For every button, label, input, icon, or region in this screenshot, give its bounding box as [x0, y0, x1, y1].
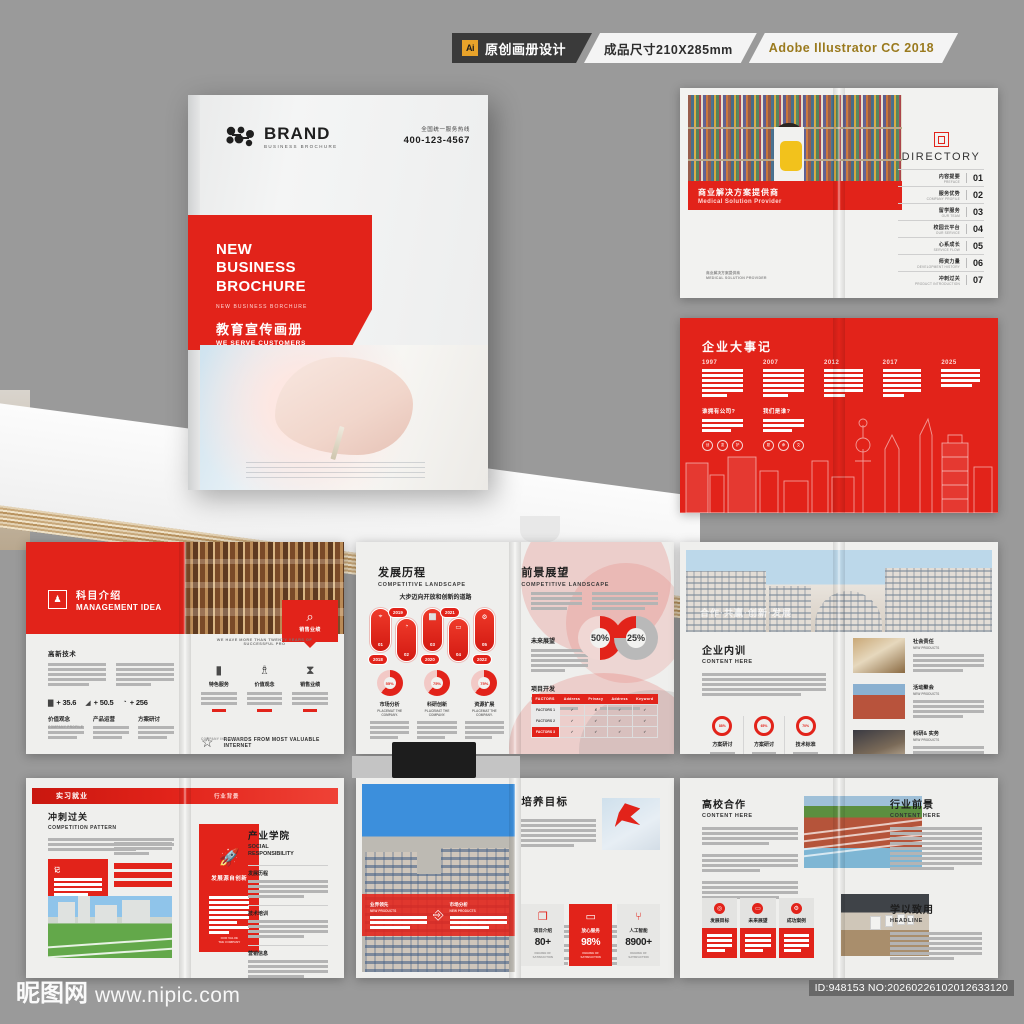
directory-item-number: 05 [966, 241, 984, 251]
table-header-cell: Address [560, 694, 585, 705]
table-cell: ✔ [607, 716, 632, 727]
gear-icon: ⚙ [791, 903, 802, 914]
pin-icon: ⌖ [371, 613, 390, 621]
page-footer-left: COMPANY PROFILE [48, 725, 83, 729]
directory-item-number: 06 [966, 258, 984, 268]
internship-right-column [114, 842, 172, 890]
banner-label-finished-size: 成品尺寸210X285mm [604, 39, 733, 58]
feature-label: 销售业绩 [292, 681, 328, 688]
table-cell: ✔ [607, 705, 632, 716]
directory-item-number: 02 [966, 190, 984, 200]
stat-label: 价值观念 [48, 715, 84, 723]
directory-item-label-cn: 服务优势 [927, 190, 960, 197]
internship-groups: 发展历程 技术培训 营销信息 [248, 865, 328, 978]
milestone-question: 我们是谁? [763, 407, 804, 415]
list-item-thumbnail [853, 730, 905, 754]
internship-top-bar: 实习就业 行业背景 [32, 788, 338, 804]
banner-segment-software-type: Ai 原创画册设计 [452, 33, 592, 63]
apply-learning-title-cn: 学以致用 [890, 901, 982, 916]
table-cell: ✔ [632, 727, 657, 738]
stat-card: ▭ 放心服务 98% DEGREE OF SATISFACTION [569, 904, 612, 966]
photo-caption-band: 商业解决方案提供商 Medical Solution Provider [688, 181, 902, 210]
table-row-label: FACTORS 2 [532, 716, 560, 727]
tablet-device [392, 742, 476, 778]
ring-stat: 55% 市场分析 PLACEMAT THE COMPANY. [370, 670, 409, 739]
banner-segment-software: Adobe Illustrator CC 2018 [749, 33, 958, 63]
directory-item[interactable]: 服务优势 COMPANY PROFILE 02 [898, 186, 984, 203]
hotline-label: 全国统一服务热线 [404, 125, 470, 133]
strip-cell: 市场分析 NEW PRODUCTS [450, 902, 507, 929]
stat-card-label: 人工智能 [621, 928, 656, 934]
cover-photo-writing-hand [200, 345, 488, 490]
hourglass-icon: ⧗ [292, 664, 328, 676]
stat-value: + 256 [130, 698, 148, 707]
ring-percent: 70% [799, 719, 813, 733]
target-icon: ◎ [714, 903, 725, 914]
stat-card: ⑂ 人工智能 8900+ DEGREE OF SATISFACTION [617, 904, 660, 966]
ring-label: 方案研讨 [702, 741, 743, 748]
milestone-column: 2017 [883, 360, 922, 451]
ring-percent: 65% [757, 719, 771, 733]
management-title-cn: 科目介绍 [76, 587, 162, 602]
stat-card-label: 放心服务 [573, 928, 608, 934]
industry-outlook-title-cn: 行业前景 [890, 796, 982, 811]
directory-item-number: 01 [966, 173, 984, 183]
internship-title-cn: 冲刺过关 [48, 810, 174, 823]
training-title-cn: 企业内训 [702, 642, 826, 657]
stat-card-label: 项目介绍 [525, 928, 560, 934]
feature-item: ⧗ 销售业绩 [292, 664, 328, 712]
spread-cultivation-goals: 业界领先 NEW PRODUCTS ⎆ 市场分析 NEW PRODUCTS 培养… [356, 778, 674, 978]
banner-label-original-design: 原创画册设计 [485, 39, 566, 58]
timeline-pill-number: 01 [371, 642, 390, 647]
cover-subtitle-en: NEW BUSINESS BORCHURE [216, 304, 372, 310]
milestone-column: 2012 [824, 360, 863, 451]
badge-icon: ▮ [201, 664, 237, 676]
directory-item-label-en: PREFACE [939, 180, 960, 184]
ring-label-cn: 科研创新 [417, 701, 456, 708]
table-header-cell: Privacy [584, 694, 607, 705]
timeline-pill[interactable]: ⚙ 05 [474, 608, 495, 652]
red-ribbon-icon [615, 803, 641, 827]
milestone-year: 2012 [824, 360, 863, 366]
milestone-chips: 创 变 护 [702, 440, 743, 451]
university-card: ▭ 未来展望 [740, 898, 775, 958]
page-directory: 商业解决方案提供商 Medical Solution Provider 商业解决… [680, 88, 998, 298]
hero-overlay-text: 合作·共赢·创新·发展 [700, 606, 792, 619]
network-icon: ⎆ [433, 907, 443, 923]
timeline-pill-number: 04 [449, 652, 468, 657]
photo-caption-cn: 商业解决方案提供商 [698, 187, 902, 198]
directory-item-label-en: OUR SERVICE [933, 231, 960, 235]
goals-photo-strip: 业界领先 NEW PRODUCTS ⎆ 市场分析 NEW PRODUCTS [362, 894, 515, 936]
internship-title-en: COMPETITION PATTERN [48, 825, 174, 831]
directory-footnote: 商业解决方案提供商 MEDICAL SOLUTION PROVIDER [706, 271, 767, 280]
ring-label-cn: 资源扩展 [465, 701, 504, 708]
list-item-title-en: NEW PRODUCTS [913, 646, 984, 650]
training-rings-row: 88% 方案研讨 65% 方案研讨 70% 技术标准 [702, 716, 826, 754]
industry-outlook-title-en: CONTENT HERE [890, 813, 982, 819]
chat-icon: ▭ [573, 912, 608, 923]
ring-percent: 55% [377, 670, 403, 696]
management-right-body: WE HAVE MORE THAN TWENTY YEARS OF SUCCES… [185, 638, 344, 751]
timeline-year-tag: 2018 [368, 654, 388, 665]
chart-icon: ▇ [48, 699, 53, 707]
brochure-cover-mockup: BRAND BUSINESS BROCHURE 全国统一服务热线 400-123… [188, 95, 488, 490]
development-heading: 发展历程 COMPETITIVE LANDSCAPE [378, 564, 466, 588]
photo-caption-text: WE HAVE MORE THAN TWENTY YEARS OF SUCCES… [201, 638, 328, 646]
stat-value: + 50.5 [94, 698, 114, 707]
search-plus-icon: ⌕ [306, 610, 313, 623]
outlook-comparison-table: FACTORSAddressPrivacyAddressKeyword FACT… [515, 694, 674, 738]
group-title: 技术培训 [248, 910, 328, 917]
ring-chart: 75% [424, 670, 450, 696]
briefcase-icon: ▭ [449, 623, 468, 631]
table-cell: ✔ [632, 716, 657, 727]
management-section-title: 高新技术 [48, 648, 174, 658]
group-title: 营销信息 [248, 950, 328, 957]
donut-chart: 25% [614, 616, 658, 660]
hand-shape [275, 357, 413, 456]
ring-label: 技术标准 [785, 741, 826, 748]
feature-label: 价值观念 [247, 681, 283, 688]
stat-item: ◢ + 50.5 [85, 698, 113, 707]
list-item: 科研& 实务 NEW PRODUCTS [853, 730, 984, 754]
table-cell: ✔ [560, 705, 585, 716]
management-features-row: ▮ 特色服务 ♗ 价值观念 ⧗ 销售业绩 [201, 664, 328, 712]
brand-lockup: BRAND BUSINESS BROCHURE [224, 125, 338, 149]
red-card-label: 记 [54, 865, 102, 874]
directory-item[interactable]: 留学服务 OUR TEAM 03 [898, 203, 984, 220]
table-cell: ✘ [584, 705, 607, 716]
list-item-thumbnail [853, 684, 905, 719]
mockup-stage: Ai 原创画册设计 成品尺寸210X285mm Adobe Illustrato… [0, 0, 1024, 1024]
university-card-label: 未来展望 [742, 917, 773, 924]
table-cell: ✔ [584, 727, 607, 738]
milestone-question: 谁拥有公司? [702, 407, 743, 415]
milestone-year: 2017 [883, 360, 922, 366]
brand-molecule-logo-icon [224, 126, 258, 148]
milestone-year: 1997 [702, 360, 743, 366]
industry-academy-title-cn: 产业学院 [248, 828, 328, 842]
page-milestones: 企业大事记 1997 谁拥有公司? 创 变 护 2007 我们是谁? 愿 [680, 318, 998, 513]
internship-group: 营销信息 [248, 945, 328, 978]
asset-id-tag: ID:948153 NO:20260226102012633120 [809, 980, 1014, 996]
table-row: FACTORS 2 ✔✔✔✔ [532, 716, 658, 727]
university-card: ⚙ 成功案例 [779, 898, 814, 958]
university-cards: ◎ 发展目标 ▭ 未来展望 ⚙ 成功案例 [702, 898, 814, 958]
directory-item-label-cn: 心系成长 [934, 241, 960, 248]
development-title-cn: 发展历程 [378, 564, 466, 580]
training-ring-stat: 70% 技术标准 [784, 716, 826, 754]
outlook-donut-charts: 50% 25% [578, 616, 658, 660]
directory-footnote-en: MEDICAL SOLUTION PROVIDER [706, 276, 767, 280]
university-right-column-2: 学以致用 HEADLINE [890, 901, 982, 960]
person-square-icon: ♟ [48, 590, 67, 609]
clock-icon: ◔ [397, 623, 416, 630]
stat-label: 产品运营 [93, 715, 129, 723]
spread-internship-employment: 实习就业 行业背景 冲刺过关 COMPETITION PATTERN 记 内·点… [26, 778, 344, 978]
milestones-title: 企业大事记 [702, 338, 772, 355]
directory-item-label-en: COMPANY PROFILE [927, 197, 960, 201]
internship-bar-label-left: 实习就业 [56, 791, 88, 801]
stat-card-value: 98% [573, 937, 608, 948]
directory-heading: DIRECTORY [898, 151, 984, 163]
table-cell: ✔ [607, 727, 632, 738]
brand-tagline: BUSINESS BROCHURE [264, 144, 338, 149]
internship-group: 技术培训 [248, 905, 328, 938]
table-cell: ✔ [560, 727, 585, 738]
ring-chart: 55% [377, 670, 403, 696]
layers-icon: ❐ [525, 912, 560, 923]
list-item-title-en: NEW PRODUCTS [913, 692, 984, 696]
directory-item-label-cn: 冲刺过关 [915, 275, 960, 282]
management-left-body: 高新技术 ▇ + 35.6 ◢ + 50.5 ◔ + 256 价值观念 产品运营… [48, 648, 174, 739]
watermark-url: www.nipic.com [95, 985, 240, 1006]
directory-item[interactable]: 心系成长 SERVICE FLOW 05 [898, 237, 984, 254]
management-stats-row: ▇ + 35.6 ◢ + 50.5 ◔ + 256 [48, 698, 174, 707]
directory-item-label-en: OUR TEAM [939, 214, 960, 218]
brand-name: BRAND [264, 125, 338, 142]
internship-bar-label-right: 行业背景 [214, 792, 239, 800]
directory-item[interactable]: 冲刺过关 PRODUCT INTRODUCTION 07 [898, 271, 984, 288]
spread-internal-training: 合作·共赢·创新·发展 企业内训 CONTENT HERE 88% 方案研讨 6… [680, 542, 998, 754]
ring-label-cn: 市场分析 [370, 701, 409, 708]
table-row-label: FACTORS 3 [532, 727, 560, 738]
training-title-en: CONTENT HERE [702, 659, 826, 665]
ring-percent: 75% [471, 670, 497, 696]
list-item-title-cn: 社会责任 [913, 638, 984, 645]
site-watermark: 昵图网 www.nipic.com [16, 983, 240, 1006]
table-header-cell: Address [607, 694, 632, 705]
internship-right-text: 产业学院 SOCIAL RESPONSIBILITY 发展历程 技术培训 营销信… [248, 828, 328, 978]
stat-item: ▇ + 35.6 [48, 698, 76, 707]
ring-percent: 75% [424, 670, 450, 696]
car-icon: ⬜ [423, 613, 442, 621]
management-title-en: MANAGEMENT IDEA [76, 603, 162, 612]
university-card-label: 发展目标 [704, 917, 735, 924]
page-footer-right: COMPANY IN BUSINESS [201, 737, 244, 741]
directory-item-label-en: PRODUCT INTRODUCTION [915, 282, 960, 286]
university-title-cn: 高校合作 [702, 796, 798, 811]
banner-label-software-version: Adobe Illustrator CC 2018 [769, 41, 934, 55]
directory-item-number: 04 [966, 224, 984, 234]
cover-header: BRAND BUSINESS BROCHURE 全国统一服务热线 400-123… [224, 125, 470, 149]
org-icon: ⑂ [621, 912, 656, 923]
group-title: 发展历程 [248, 870, 328, 877]
table-header-row: FACTORSAddressPrivacyAddressKeyword [532, 694, 658, 705]
outlook-sub-2: 项目开发 [531, 684, 658, 693]
feature-item: ▮ 特色服务 [201, 664, 237, 712]
development-lead: 大步迈向开放和创新的道路 [356, 592, 515, 601]
campus-photo: 合作·共赢·创新·发展 [686, 550, 992, 632]
ring-stat: 75% 资源扩展 PLACEMAT THE COMPANY. [465, 670, 504, 739]
directory-item-number: 07 [966, 275, 984, 285]
spread-management-idea: ♟ 科目介绍 MANAGEMENT IDEA ⌕ 销售业绩 高新技术 ▇ [26, 542, 344, 754]
stat-column: 产品运营 [93, 715, 129, 739]
stat-label: 方案研讨 [138, 715, 174, 723]
ring-label: 方案研讨 [744, 741, 785, 748]
directory-item-label-en: DEVELOPMENT HISTORY [917, 265, 960, 269]
directory-item-label-en: SERVICE FLOW [934, 248, 960, 252]
campus-field-photo [48, 896, 172, 958]
campus-tower-photo: 业界领先 NEW PRODUCTS ⎆ 市场分析 NEW PRODUCTS [362, 784, 515, 972]
industry-academy-title-en: SOCIAL RESPONSIBILITY [248, 844, 328, 858]
milestone-column: 1997 谁拥有公司? 创 变 护 [702, 360, 743, 451]
training-list: 社会责任 NEW PRODUCTS 活动聚会 NEW PRODUCTS 科研& … [839, 638, 998, 754]
chat-icon: ▭ [752, 903, 763, 914]
university-left-column: 高校合作 CONTENT HERE [702, 796, 798, 899]
desk-leg [520, 516, 560, 542]
cover-title-en: NEW BUSINESS BROCHURE [216, 241, 372, 296]
table-header-cell: Keyword [632, 694, 657, 705]
ribbon-photo [602, 798, 660, 850]
development-title-en: COMPETITIVE LANDSCAPE [378, 582, 466, 588]
internship-group: 发展历程 [248, 865, 328, 898]
directory-item[interactable]: 内容提要 PREFACE 01 [898, 169, 984, 186]
cover-title-cn: 教育宣传画册 [216, 319, 372, 338]
milestone-chips: 愿 命 文 [763, 440, 804, 451]
watermark-logo: 昵图网 [16, 983, 88, 1006]
spread-development-outlook: 发展历程 COMPETITIVE LANDSCAPE 大步迈向开放和创新的道路 … [356, 542, 674, 754]
goals-stat-cards: ❐ 项目介绍 80+ DEGREE OF SATISFACTION ▭ 放心服务… [521, 904, 660, 966]
training-ring-stat: 65% 方案研讨 [743, 716, 785, 754]
university-card: ◎ 发展目标 [702, 898, 737, 958]
cover-book: BRAND BUSINESS BROCHURE 全国统一服务热线 400-123… [188, 95, 488, 490]
table-cell: ✔ [584, 716, 607, 727]
table-row: FACTORS 1 ✔✘✔✔ [532, 705, 658, 716]
development-timeline: ⌖ 01 2018 ◔ 02 2019 ⬜ 03 2020 ▭ 04 2021 … [368, 606, 504, 662]
hotline-block: 全国统一服务热线 400-123-4567 [404, 125, 470, 146]
stat-card-value: 8900+ [621, 937, 656, 948]
stat-card-caption: DEGREE OF SATISFACTION [525, 951, 560, 959]
timeline-pill-number: 05 [475, 642, 494, 647]
stat-card: ❐ 项目介绍 80+ DEGREE OF SATISFACTION [521, 904, 564, 966]
stat-value: + 35.6 [56, 698, 76, 707]
hotline-number: 400-123-4567 [404, 135, 470, 146]
donut-value: 25% [614, 616, 658, 660]
spec-banner: Ai 原创画册设计 成品尺寸210X285mm Adobe Illustrato… [452, 33, 958, 63]
milestone-year: 2025 [941, 360, 980, 366]
paper-ruled-lines [246, 461, 425, 478]
timeline-pill[interactable]: ◔ 02 [396, 618, 417, 662]
stat-item: ◔ + 256 [123, 698, 148, 707]
directory-item-label-cn: 校园云平台 [933, 224, 960, 231]
university-right-column: 行业前景 CONTENT HERE [890, 796, 982, 870]
directory-list: DIRECTORY 内容提要 PREFACE 01 服务优势 COMPANY P… [898, 132, 984, 288]
training-ring-stat: 88% 方案研讨 [702, 716, 743, 754]
milestone-column: 2025 [941, 360, 980, 451]
ring-chart: 65% [754, 716, 774, 736]
milestones-columns: 1997 谁拥有公司? 创 变 护 2007 我们是谁? 愿 命 文 [702, 360, 980, 451]
clock-icon: ◔ [123, 699, 127, 706]
table-cell: ✔ [560, 716, 585, 727]
cover-red-panel: NEW BUSINESS BROCHURE NEW BUSINESS BORCH… [188, 215, 372, 350]
directory-item[interactable]: 校园云平台 OUR SERVICE 04 [898, 220, 984, 237]
table-header-cell: FACTORS [532, 694, 560, 705]
timeline-year-tag: 2021 [440, 607, 460, 618]
spread-university-cooperation: 高校合作 CONTENT HERE ◎ 发展目标 ▭ 未来展望 ⚙ [680, 778, 998, 978]
ring-chart: 88% [712, 716, 732, 736]
sales-performance-badge[interactable]: ⌕ 销售业绩 [282, 600, 338, 642]
list-item: 社会责任 NEW PRODUCTS [853, 638, 984, 673]
university-title-en: CONTENT HERE [702, 813, 798, 819]
gear-icon: ⚙ [475, 613, 494, 621]
feature-label: 特色服务 [201, 681, 237, 688]
ring-label-en: PLACEMAT THE COMPANY. [417, 709, 456, 717]
directory-item-label-cn: 留学服务 [939, 207, 960, 214]
timeline-year-tag: 2020 [420, 654, 440, 665]
ring-stat: 75% 科研创新 PLACEMAT THE COMPANY. [417, 670, 456, 739]
directory-item-label-cn: 师资力量 [917, 258, 960, 265]
banner-segment-size: 成品尺寸210X285mm [584, 33, 757, 63]
illustrator-ai-icon: Ai [462, 40, 478, 56]
ring-chart: 70% [796, 716, 816, 736]
table-row: FACTORS 3 ✔✔✔✔ [532, 727, 658, 738]
stat-card-caption: DEGREE OF SATISFACTION [573, 951, 608, 959]
growth-icon: ◢ [85, 699, 90, 707]
photo-caption-en: Medical Solution Provider [698, 199, 902, 205]
directory-item-number: 03 [966, 207, 984, 217]
ring-label-en: PLACEMAT THE COMPANY. [465, 709, 504, 717]
timeline-year-tag: 2019 [388, 607, 408, 618]
directory-item[interactable]: 师资力量 DEVELOPMENT HISTORY 06 [898, 254, 984, 271]
timeline-pill-number: 02 [397, 652, 416, 657]
milestone-column: 2007 我们是谁? 愿 命 文 [763, 360, 804, 451]
ring-label-en: PLACEMAT THE COMPANY. [370, 709, 409, 717]
feature-item: ♗ 价值观念 [247, 664, 283, 712]
trophy-icon: ♗ [247, 664, 283, 676]
table-cell: ✔ [632, 705, 657, 716]
directory-rows: 内容提要 PREFACE 01 服务优势 COMPANY PROFILE 02 … [898, 169, 984, 288]
book-icon [934, 132, 949, 147]
badge-label: 销售业绩 [299, 626, 321, 633]
timeline-pill[interactable]: ▭ 04 [448, 618, 469, 662]
table-row-label: FACTORS 1 [532, 705, 560, 716]
yellow-backpack [780, 141, 802, 171]
training-left-body: 企业内训 CONTENT HERE 88% 方案研讨 65% 方案研讨 70% … [702, 642, 826, 754]
list-item-title-cn: 科研& 实务 [913, 730, 984, 737]
list-item-title-en: NEW PRODUCTS [913, 738, 984, 742]
stat-card-caption: DEGREE OF SATISFACTION [621, 951, 656, 959]
list-item: 活动聚会 NEW PRODUCTS [853, 684, 984, 719]
stat-column: 方案研讨 [138, 715, 174, 739]
stat-card-value: 80+ [525, 937, 560, 948]
strip-cell: 业界领先 NEW PRODUCTS [370, 902, 427, 929]
ring-chart: 75% [471, 670, 497, 696]
table-body: FACTORS 1 ✔✘✔✔ FACTORS 2 ✔✔✔✔ FACTORS 3 … [532, 705, 658, 738]
directory-item-label-cn: 内容提要 [939, 173, 960, 180]
list-item-title-cn: 活动聚会 [913, 684, 984, 691]
timeline-pill-number: 03 [423, 642, 442, 647]
development-rings: 55% 市场分析 PLACEMAT THE COMPANY. 75% 科研创新 … [370, 670, 504, 739]
university-card-label: 成功案例 [781, 917, 812, 924]
milestone-year: 2007 [763, 360, 804, 366]
ring-percent: 88% [715, 719, 729, 733]
list-item-thumbnail [853, 638, 905, 673]
apply-learning-title-en: HEADLINE [890, 918, 982, 924]
management-red-header: ♟ 科目介绍 MANAGEMENT IDEA [26, 542, 185, 634]
timeline-year-tag: 2022 [472, 654, 492, 665]
